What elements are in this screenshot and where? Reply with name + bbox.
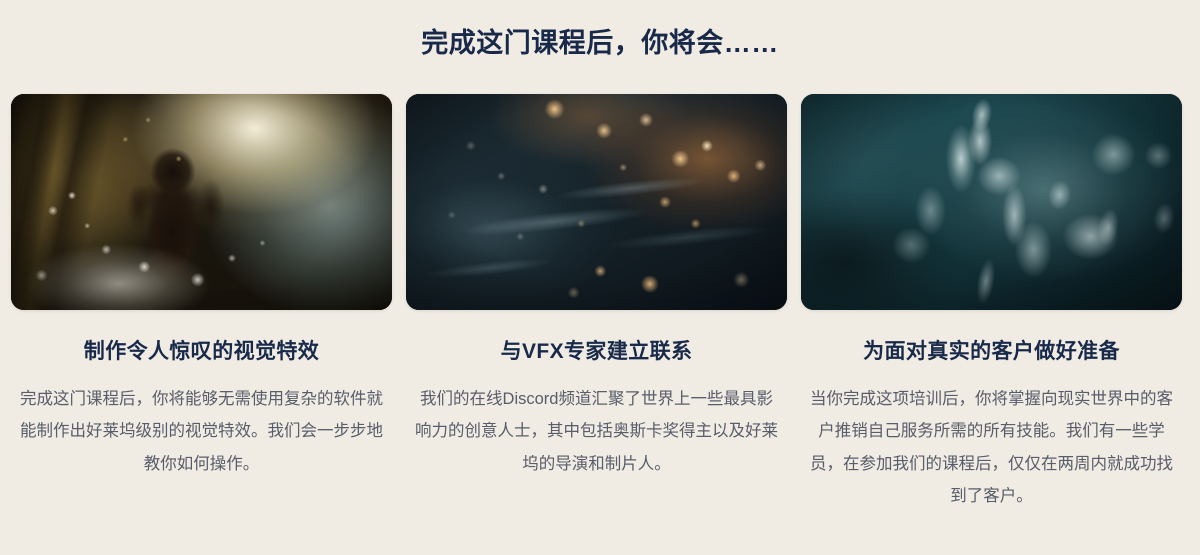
benefit-card-image-warrior-in-golden-mist-and-water (11, 94, 392, 310)
benefit-card-body: 我们的在线Discord频道汇聚了世界上一些最具影响力的创意人士，其中包括奥斯卡… (406, 383, 787, 480)
benefit-card-title: 制作令人惊叹的视觉特效 (11, 338, 392, 365)
section-heading: 完成这门课程后，你将会…… (0, 27, 1200, 61)
benefit-card: 为面对真实的客户做好准备 当你完成这项培训后，你将掌握向现实世界中的客户推销自己… (801, 94, 1182, 512)
image-layer-vignette (801, 94, 1182, 310)
course-benefits-section: 完成这门课程后，你将会…… 制作令人惊叹的视觉特效 完成这门课程后，你将能够无需… (0, 0, 1200, 555)
benefit-card-image-teal-smoke-swirls (801, 94, 1182, 310)
benefit-card: 与VFX专家建立联系 我们的在线Discord频道汇聚了世界上一些最具影响力的创… (406, 94, 787, 512)
benefit-card-body: 完成这门课程后，你将能够无需使用复杂的软件就能制作出好莱坞级别的视觉特效。我们会… (11, 383, 392, 480)
image-layer-vignette (11, 94, 392, 310)
benefit-cards-row: 制作令人惊叹的视觉特效 完成这门课程后，你将能够无需使用复杂的软件就能制作出好莱… (11, 94, 1189, 512)
benefit-card: 制作令人惊叹的视觉特效 完成这门课程后，你将能够无需使用复杂的软件就能制作出好莱… (11, 94, 392, 512)
benefit-card-title: 为面对真实的客户做好准备 (801, 338, 1182, 365)
benefit-card-body: 当你完成这项培训后，你将掌握向现实世界中的客户推销自己服务所需的所有技能。我们有… (801, 383, 1182, 512)
benefit-card-image-dark-nebula-with-warm-bokeh-particles (406, 94, 787, 310)
image-layer-vignette (406, 94, 787, 310)
benefit-card-title: 与VFX专家建立联系 (406, 338, 787, 365)
